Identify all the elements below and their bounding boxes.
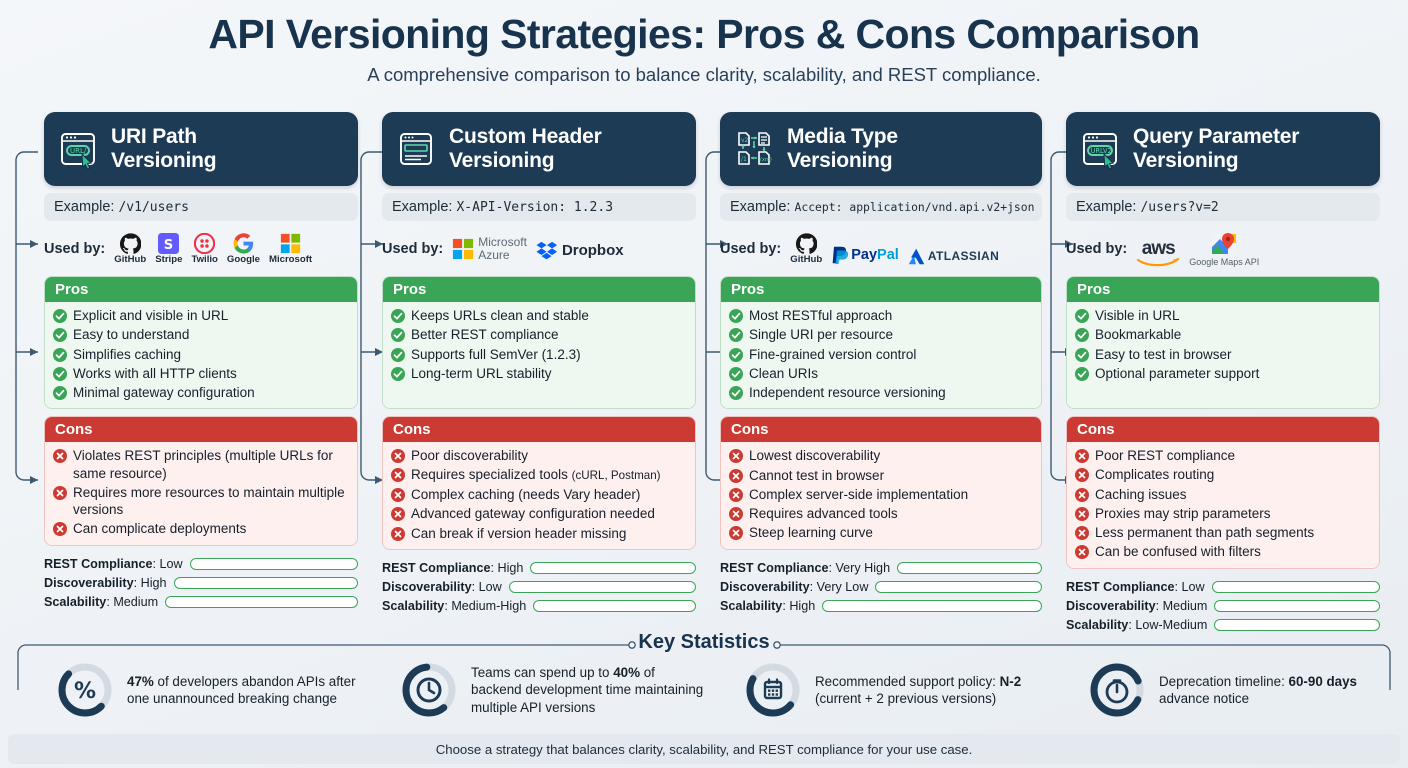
logo-label: Microsoft	[269, 255, 312, 265]
aws-label: aws	[1142, 240, 1175, 257]
dropbox-logo: Dropbox	[536, 240, 624, 262]
cross-icon	[1075, 488, 1089, 502]
stat-rest: Deprecation timeline:	[1159, 674, 1289, 689]
metric-name: Discoverability	[720, 580, 810, 594]
list-item: Cannot test in browser	[729, 466, 1033, 485]
check-icon	[53, 386, 67, 400]
metric-row: Scalability: Medium	[44, 593, 358, 612]
list-item: Explicit and visible in URL	[53, 306, 349, 325]
aws-logo: aws	[1136, 240, 1180, 267]
svg-text:URL/: URL/	[70, 147, 87, 155]
stat-item: Teams can spend up to 40% of backend dev…	[360, 661, 704, 719]
metric-value: Medium	[1163, 599, 1208, 613]
stat-rest: of developers abandon APIs after one una…	[127, 674, 356, 706]
key-statistics-title: Key Statistics	[16, 631, 1392, 654]
check-icon	[53, 309, 67, 323]
header: API Versioning Strategies: Pros & Cons C…	[0, 0, 1408, 86]
cross-icon	[729, 449, 743, 463]
check-icon	[391, 348, 405, 362]
used-by-label: Used by:	[382, 241, 443, 257]
metric-row: Discoverability: Very Low	[720, 578, 1042, 597]
metric-name: Scalability	[720, 599, 782, 613]
paypal-logo: PayPal	[831, 245, 899, 265]
metric-name: REST Compliance	[720, 561, 828, 575]
check-icon	[53, 367, 67, 381]
card-title-line2: Versioning	[111, 149, 216, 172]
card-title-line2: Versioning	[1133, 149, 1238, 172]
google-logo: Google	[227, 233, 260, 265]
pros-box: Pros Keeps URLs clean and stable Better …	[382, 276, 696, 409]
stat-item: Deprecation timeline: 60-90 days advance…	[1048, 661, 1392, 719]
metric-name: Scalability	[44, 595, 106, 609]
metric-bar	[875, 581, 1042, 593]
list-item: Less permanent than path segments	[1075, 523, 1371, 542]
cross-icon	[1075, 526, 1089, 540]
metric-name: Discoverability	[44, 576, 134, 590]
list-item: Minimal gateway configuration	[53, 383, 349, 402]
microsoft-logo: Microsoft	[269, 233, 312, 265]
example-label: Example:	[730, 199, 790, 215]
cross-icon	[1075, 468, 1089, 482]
list-item: Visible in URL	[1075, 306, 1371, 325]
metric-row: Scalability: High	[720, 597, 1042, 616]
svg-text:/1: /1	[741, 156, 747, 163]
logo-list: GitHub PayPal ATLASSIAN	[790, 233, 999, 265]
pros-box: Pros Most RESTful approach Single URI pe…	[720, 276, 1042, 409]
metric-bar	[190, 558, 358, 570]
check-icon	[729, 367, 743, 381]
example-row: Example: X-API-Version: 1.2.3	[382, 193, 696, 221]
cross-icon	[1075, 449, 1089, 463]
pros-list: Visible in URL Bookmarkable Easy to test…	[1067, 302, 1379, 408]
dropbox-label: Dropbox	[562, 242, 624, 259]
list-item: Easy to understand	[53, 325, 349, 344]
card-header: URL/ URI Path Versioning	[44, 112, 358, 186]
example-label: Example:	[392, 199, 452, 215]
metric-value: Very High	[835, 561, 890, 575]
check-icon	[729, 386, 743, 400]
infographic-page: API Versioning Strategies: Pros & Cons C…	[0, 0, 1408, 768]
metric-row: REST Compliance: Low	[1066, 578, 1380, 597]
used-by-row: Used by: aws Google Maps API	[1066, 229, 1380, 269]
cross-icon	[391, 527, 405, 541]
metric-value: High	[789, 599, 815, 613]
metric-value: Medium-High	[451, 599, 526, 613]
list-item: Can break if version header missing	[391, 524, 687, 543]
cross-icon	[53, 486, 67, 500]
cons-header: Cons	[383, 417, 695, 442]
list-item: Lowest discoverability	[729, 446, 1033, 465]
metrics-list: REST Compliance: Low Discoverability: Hi…	[44, 555, 358, 612]
list-item: Steep learning curve	[729, 523, 1033, 542]
cons-list: Poor REST compliance Complicates routing…	[1067, 442, 1379, 568]
stat-item: Recommended support policy: N-2 (current…	[704, 661, 1048, 719]
cross-icon	[53, 449, 67, 463]
list-item: Works with all HTTP clients	[53, 364, 349, 383]
document-flow-versions-icon: v2 /1 (xro)	[732, 127, 776, 171]
example-value: Accept: application/vnd.api.v2+json	[794, 200, 1034, 214]
stat-bold: 40%	[613, 665, 640, 680]
cons-box: Cons Violates REST principles (multiple …	[44, 416, 358, 545]
list-item: Independent resource versioning	[729, 383, 1033, 402]
cross-icon	[729, 488, 743, 502]
example-value: /users?v=2	[1140, 200, 1218, 215]
metrics-list: REST Compliance: Low Discoverability: Me…	[1066, 578, 1380, 635]
cons-list: Lowest discoverability Cannot test in br…	[721, 442, 1041, 548]
logo-label: Twilio	[191, 255, 217, 265]
check-icon	[729, 328, 743, 342]
logo-list: aws Google Maps API	[1136, 231, 1259, 267]
card-header: Custom Header Versioning	[382, 112, 696, 186]
metric-bar	[174, 577, 358, 589]
stat-bold: 47%	[127, 674, 154, 689]
metric-name: REST Compliance	[382, 561, 490, 575]
pros-header: Pros	[45, 277, 357, 302]
check-icon	[1075, 309, 1089, 323]
card-title-line1: Custom Header	[449, 125, 602, 148]
page-subtitle: A comprehensive comparison to balance cl…	[0, 64, 1408, 86]
stat-text: 47% of developers abandon APIs after one…	[127, 673, 360, 708]
footer-banner: Choose a strategy that balances clarity,…	[8, 734, 1400, 764]
logo-label: GitHub	[114, 255, 146, 265]
metric-bar	[509, 581, 696, 593]
example-label: Example:	[1076, 199, 1136, 215]
atlassian-logo: ATLASSIAN	[908, 248, 999, 265]
logo-list: GitHub S Stripe Twilio Google	[114, 233, 312, 265]
atlassian-label: ATLASSIAN	[928, 249, 999, 263]
check-icon	[729, 309, 743, 323]
cons-list: Poor discoverability Requires specialize…	[383, 442, 695, 549]
list-item: Requires more resources to maintain mult…	[53, 483, 349, 520]
example-row: Example: Accept: application/vnd.api.v2+…	[720, 193, 1042, 221]
cross-icon	[1075, 507, 1089, 521]
calendar-donut-icon	[744, 661, 802, 719]
list-item: Poor REST compliance	[1075, 446, 1371, 465]
cross-icon	[53, 522, 67, 536]
used-by-label: Used by:	[720, 241, 781, 257]
check-icon	[53, 328, 67, 342]
list-item: Can be confused with filters	[1075, 542, 1371, 561]
stat-bold: N-2	[1000, 674, 1022, 689]
card-title-line2: Versioning	[787, 149, 892, 172]
paypal-label: PayPal	[851, 247, 899, 263]
cons-header: Cons	[45, 417, 357, 442]
percent-donut-icon: %	[56, 661, 114, 719]
used-by-label: Used by:	[44, 241, 105, 257]
browser-url-query-icon: URLV2	[1078, 127, 1122, 171]
microsoft-azure-logo: MicrosoftAzure	[452, 236, 527, 261]
stat-text: Teams can spend up to 40% of backend dev…	[471, 664, 704, 716]
metric-row: REST Compliance: Very High	[720, 559, 1042, 578]
github-logo: GitHub	[790, 233, 822, 265]
metric-bar	[530, 562, 696, 574]
used-by-row: Used by: MicrosoftAzure Dropbox	[382, 229, 696, 269]
example-row: Example: /users?v=2	[1066, 193, 1380, 221]
metric-value: Medium	[113, 595, 158, 609]
check-icon	[729, 348, 743, 362]
cross-icon	[391, 449, 405, 463]
cross-icon	[391, 507, 405, 521]
metric-bar	[897, 562, 1042, 574]
pros-box: Pros Explicit and visible in URL Easy to…	[44, 276, 358, 409]
stat-tail: advance notice	[1159, 691, 1249, 706]
logo-label: Google	[227, 255, 260, 265]
metric-bar	[822, 600, 1042, 612]
stat-item: % 47% of developers abandon APIs after o…	[16, 661, 360, 719]
metric-row: REST Compliance: High	[382, 559, 696, 578]
metric-bar	[1214, 600, 1380, 612]
check-icon	[1075, 328, 1089, 342]
card-header: URLV2 Query Parameter Versioning	[1066, 112, 1380, 186]
cons-header: Cons	[1067, 417, 1379, 442]
list-item: Complex server-side implementation	[729, 485, 1033, 504]
cross-icon	[391, 488, 405, 502]
metric-value: Low	[1181, 580, 1204, 594]
svg-text:%: %	[74, 679, 96, 704]
stripe-logo: S Stripe	[155, 233, 182, 265]
check-icon	[1075, 367, 1089, 381]
clock-donut-icon	[400, 661, 458, 719]
metric-row: REST Compliance: Low	[44, 555, 358, 574]
browser-header-bar-icon	[394, 127, 438, 171]
list-item: Clean URIs	[729, 364, 1033, 383]
twilio-logo: Twilio	[191, 233, 217, 265]
stat-rest: Recommended support policy:	[815, 674, 1000, 689]
logo-label: GitHub	[790, 255, 822, 265]
example-label: Example:	[54, 199, 114, 215]
github-logo: GitHub	[114, 233, 146, 265]
metric-bar	[1212, 581, 1380, 593]
card-title-line1: URI Path	[111, 125, 197, 148]
svg-text:(xro): (xro)	[760, 157, 772, 163]
card-title: URI Path Versioning	[111, 125, 216, 172]
list-item: Easy to test in browser	[1075, 345, 1371, 364]
logo-label: Google Maps API	[1189, 258, 1259, 267]
pros-box: Pros Visible in URL Bookmarkable Easy to…	[1066, 276, 1380, 409]
metric-name: REST Compliance	[1066, 580, 1174, 594]
list-item: Single URI per resource	[729, 325, 1033, 344]
strategy-card-grid: URL/ URI Path Versioning Example: /v1/us…	[36, 112, 1388, 635]
stat-text: Deprecation timeline: 60-90 days advance…	[1159, 673, 1392, 708]
pros-header: Pros	[721, 277, 1041, 302]
metric-row: Discoverability: Low	[382, 578, 696, 597]
browser-url-cursor-icon: URL/	[56, 127, 100, 171]
strategy-card-media-type: v2 /1 (xro) Media Type Ver	[712, 112, 1050, 635]
list-item: Complex caching (needs Vary header)	[391, 485, 687, 504]
key-statistics-section: Key Statistics % 47% of developers aband…	[16, 631, 1392, 731]
list-item: Can complicate deployments	[53, 519, 349, 538]
strategy-card-custom-header: Custom Header Versioning Example: X-API-…	[374, 112, 704, 635]
metric-bar	[533, 600, 696, 612]
metric-bar	[165, 596, 358, 608]
check-icon	[391, 309, 405, 323]
cons-box: Cons Poor discoverability Requires speci…	[382, 416, 696, 550]
check-icon	[391, 328, 405, 342]
used-by-row: Used by: GitHub PayPal ATLASSIAN	[720, 229, 1042, 269]
metric-value: High	[497, 561, 523, 575]
example-value: X-API-Version: 1.2.3	[456, 200, 613, 215]
example-row: Example: /v1/users	[44, 193, 358, 221]
svg-text:v2: v2	[741, 137, 749, 144]
cons-box: Cons Poor REST compliance Complicates ro…	[1066, 416, 1380, 569]
list-item: Fine-grained version control	[729, 345, 1033, 364]
metric-value: Very Low	[817, 580, 869, 594]
metric-name: Discoverability	[1066, 599, 1156, 613]
check-icon	[391, 367, 405, 381]
metric-value: High	[141, 576, 167, 590]
svg-text:URLV2: URLV2	[1091, 147, 1112, 155]
list-item: Poor discoverability	[391, 446, 687, 465]
cons-list: Violates REST principles (multiple URLs …	[45, 442, 357, 544]
list-item: Complicates routing	[1075, 465, 1371, 484]
card-title: Media Type Versioning	[787, 125, 898, 172]
list-item: Proxies may strip parameters	[1075, 504, 1371, 523]
pros-header: Pros	[1067, 277, 1379, 302]
card-title-line2: Versioning	[449, 149, 554, 172]
metric-name: Scalability	[382, 599, 444, 613]
card-title-line1: Query Parameter	[1133, 125, 1299, 148]
logo-label: Stripe	[155, 255, 182, 265]
cons-box: Cons Lowest discoverability Cannot test …	[720, 416, 1042, 549]
check-icon	[1075, 348, 1089, 362]
stat-tail: (current + 2 previous versions)	[815, 691, 996, 706]
list-item: Caching issues	[1075, 485, 1371, 504]
metric-name: REST Compliance	[44, 557, 152, 571]
used-by-row: Used by: GitHub S Stripe Twilio	[44, 229, 358, 269]
pros-list: Most RESTful approach Single URI per res…	[721, 302, 1041, 408]
metric-value: Low	[479, 580, 502, 594]
list-item: Violates REST principles (multiple URLs …	[53, 446, 349, 483]
stat-text: Recommended support policy: N-2 (current…	[815, 673, 1048, 708]
list-item: Most RESTful approach	[729, 306, 1033, 325]
card-header: v2 /1 (xro) Media Type Ver	[720, 112, 1042, 186]
card-title-line1: Media Type	[787, 125, 898, 148]
metric-bar	[1214, 619, 1380, 631]
key-statistics-row: % 47% of developers abandon APIs after o…	[16, 661, 1392, 719]
metric-name: Discoverability	[382, 580, 472, 594]
cross-icon	[729, 526, 743, 540]
list-item: Advanced gateway configuration needed	[391, 504, 687, 523]
list-item: Better REST compliance	[391, 325, 687, 344]
list-item: Bookmarkable	[1075, 325, 1371, 344]
google-maps-api-logo: Google Maps API	[1189, 231, 1259, 267]
metric-row: Scalability: Medium-High	[382, 597, 696, 616]
metric-value: Low	[159, 557, 182, 571]
strategy-card-query-parameter: URLV2 Query Parameter Versioning Example…	[1058, 112, 1388, 635]
card-title: Query Parameter Versioning	[1133, 125, 1299, 172]
pros-list: Keeps URLs clean and stable Better REST …	[383, 302, 695, 408]
example-value: /v1/users	[118, 200, 188, 215]
page-title: API Versioning Strategies: Pros & Cons C…	[0, 12, 1408, 58]
pros-list: Explicit and visible in URL Easy to unde…	[45, 302, 357, 408]
azure-label: MicrosoftAzure	[478, 236, 527, 261]
list-item: Simplifies caching	[53, 345, 349, 364]
spacer	[1075, 383, 1371, 402]
metric-row: Discoverability: Medium	[1066, 597, 1380, 616]
cross-icon	[729, 469, 743, 483]
list-item: Requires specialized tools (cURL, Postma…	[391, 465, 687, 485]
pros-header: Pros	[383, 277, 695, 302]
cross-icon	[391, 468, 405, 482]
metrics-list: REST Compliance: Very High Discoverabili…	[720, 559, 1042, 616]
footer-text: Choose a strategy that balances clarity,…	[436, 742, 973, 757]
stopwatch-donut-icon	[1088, 661, 1146, 719]
used-by-label: Used by:	[1066, 241, 1127, 257]
svg-text:S: S	[164, 238, 173, 253]
metric-row: Discoverability: High	[44, 574, 358, 593]
list-item: Keeps URLs clean and stable	[391, 306, 687, 325]
card-title: Custom Header Versioning	[449, 125, 602, 172]
list-item: Supports full SemVer (1.2.3)	[391, 345, 687, 364]
spacer	[391, 383, 687, 402]
cross-icon	[1075, 545, 1089, 559]
logo-list: MicrosoftAzure Dropbox	[452, 236, 623, 261]
cross-icon	[729, 507, 743, 521]
check-icon	[53, 348, 67, 362]
metrics-list: REST Compliance: High Discoverability: L…	[382, 559, 696, 616]
stat-bold: 60-90 days	[1289, 674, 1358, 689]
cons-header: Cons	[721, 417, 1041, 442]
strategy-card-uri-path: URL/ URI Path Versioning Example: /v1/us…	[36, 112, 366, 635]
stat-rest: Teams can spend up to	[471, 665, 613, 680]
list-item: Requires advanced tools	[729, 504, 1033, 523]
list-item: Optional parameter support	[1075, 364, 1371, 383]
list-item: Long-term URL stability	[391, 364, 687, 383]
